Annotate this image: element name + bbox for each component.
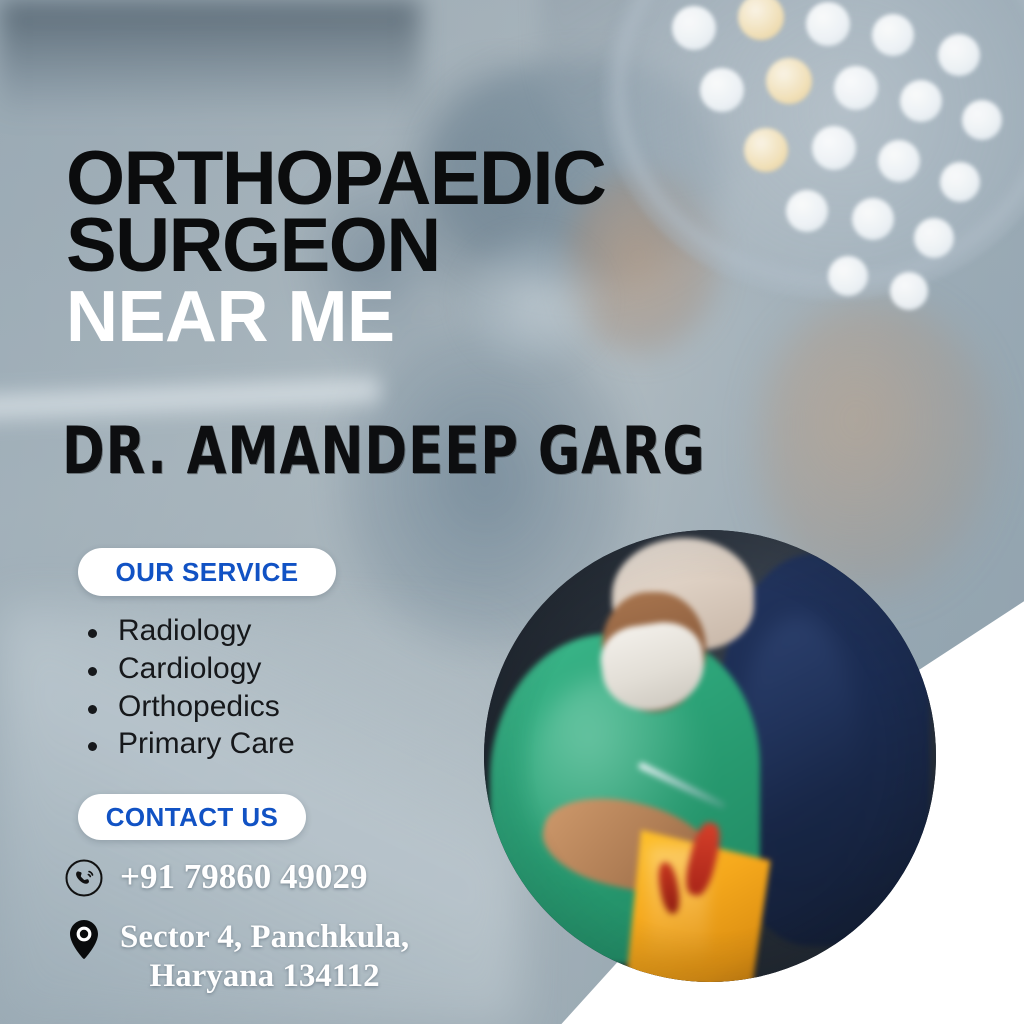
- contact-phone-number: +91 79860 49029: [120, 856, 367, 897]
- list-item: Primary Care: [78, 725, 295, 763]
- our-service-badge-label: OUR SERVICE: [115, 557, 298, 588]
- phone-icon: [62, 856, 106, 900]
- list-item: Cardiology: [78, 650, 295, 688]
- photo-vignette: [484, 530, 936, 982]
- contact-us-badge: CONTACT US: [78, 794, 306, 840]
- headline-line-2: SURGEON: [66, 213, 766, 280]
- page-title: ORTHOPAEDIC SURGEON NEAR ME: [66, 146, 766, 349]
- surgeon-photo: [484, 530, 936, 982]
- our-service-badge: OUR SERVICE: [78, 548, 336, 596]
- contact-address-row[interactable]: Sector 4, Panchkula, Haryana 134112: [62, 918, 409, 996]
- doctor-name: DR. AMANDEEP GARG: [62, 420, 706, 485]
- location-pin-icon: [62, 918, 106, 962]
- poster-canvas: ORTHOPAEDIC SURGEON NEAR ME DR. AMANDEEP…: [0, 0, 1024, 1024]
- list-item: Radiology: [78, 612, 295, 650]
- contact-us-badge-label: CONTACT US: [106, 802, 279, 833]
- service-list: Radiology Cardiology Orthopedics Primary…: [78, 612, 295, 763]
- contact-address-line-1: Sector 4, Panchkula,: [120, 918, 409, 957]
- contact-phone-row[interactable]: +91 79860 49029: [62, 856, 367, 900]
- contact-address-line-2: Haryana 134112: [120, 957, 409, 996]
- headline-line-3: NEAR ME: [66, 286, 766, 349]
- list-item: Orthopedics: [78, 688, 295, 726]
